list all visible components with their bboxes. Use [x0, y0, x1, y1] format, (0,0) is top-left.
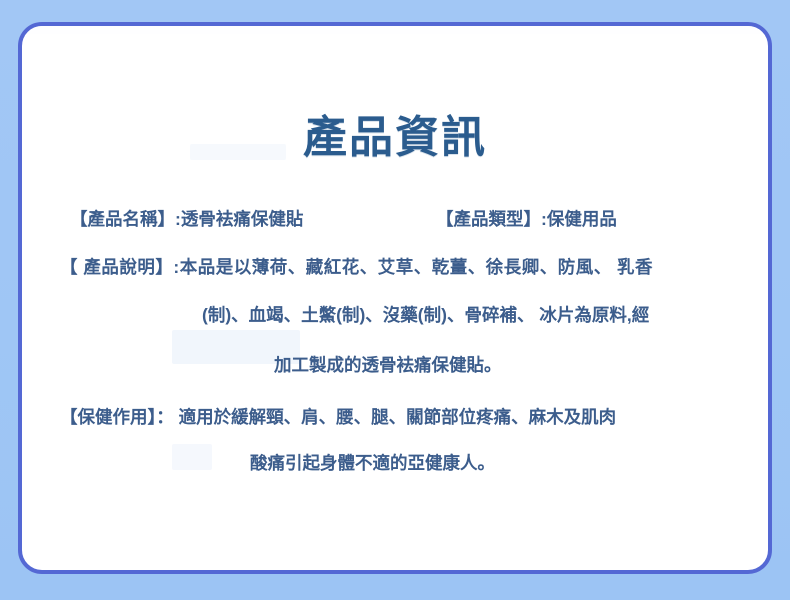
- product-name-field: 【產品名稱】:透骨袪痛保健貼: [70, 206, 303, 233]
- product-description-line-1: 【 產品說明】:本品是以薄荷、藏紅花、艾草、乾薑、徐長卿、防風、 乳香: [60, 254, 653, 281]
- product-type-field: 【產品類型】:保健用品: [436, 206, 617, 233]
- health-function-line-2: 酸痛引起身體不適的亞健康人。: [250, 450, 495, 477]
- product-description-line: (制)、血竭、土鱉(制)、沒藥(制)、骨碎補、 冰片為原料,經: [22, 294, 768, 342]
- product-field-row: 【產品名稱】:透骨袪痛保健貼 【產品類型】:保健用品: [22, 196, 768, 244]
- product-info-card: 產品資訊 【產品名稱】:透骨袪痛保健貼 【產品類型】:保健用品 【 產品說明】:…: [18, 22, 772, 574]
- page-title: 產品資訊: [22, 112, 768, 164]
- product-description-line-2: (制)、血竭、土鱉(制)、沒藥(制)、骨碎補、 冰片為原料,經: [202, 302, 649, 329]
- page-root: 產品資訊 【產品名稱】:透骨袪痛保健貼 【產品類型】:保健用品 【 產品說明】:…: [0, 0, 790, 600]
- product-info-body: 【產品名稱】:透骨袪痛保健貼 【產品類型】:保健用品 【 產品說明】:本品是以薄…: [22, 196, 768, 484]
- product-description-line: 加工製成的透骨袪痛保健貼。: [22, 342, 768, 394]
- health-function-line: 【保健作用】： 適用於緩解頸、肩、腰、腿、關節部位疼痛、麻木及肌肉: [22, 394, 768, 444]
- product-description-line: 【 產品說明】:本品是以薄荷、藏紅花、艾草、乾薑、徐長卿、防風、 乳香: [22, 244, 768, 294]
- card-clip: 產品資訊 【產品名稱】:透骨袪痛保健貼 【產品類型】:保健用品 【 產品說明】:…: [22, 26, 768, 570]
- health-function-line-1: 【保健作用】： 適用於緩解頸、肩、腰、腿、關節部位疼痛、麻木及肌肉: [60, 404, 616, 431]
- product-description-line-3: 加工製成的透骨袪痛保健貼。: [274, 352, 502, 379]
- health-function-line: 酸痛引起身體不適的亞健康人。: [22, 444, 768, 484]
